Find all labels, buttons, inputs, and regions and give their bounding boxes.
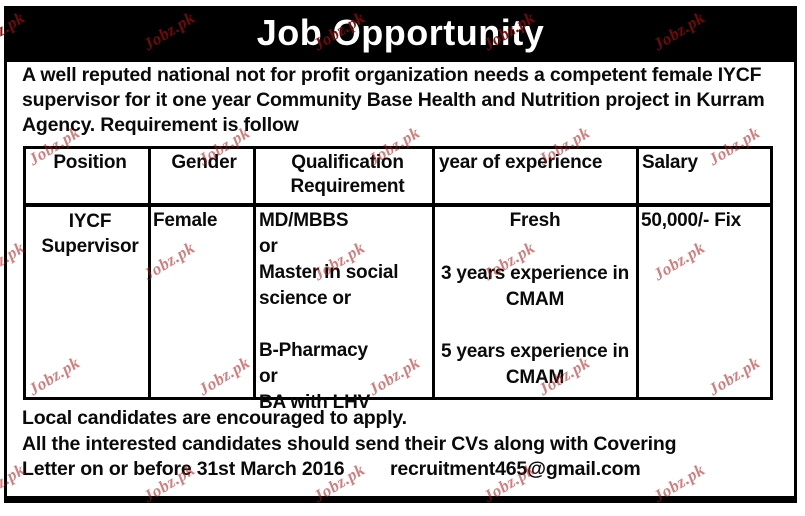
page-title: Job Opportunity <box>7 12 794 54</box>
column-divider-experience-salary <box>636 146 639 400</box>
footer-deadline-text: Letter on or before 31st March 2016 <box>22 457 344 483</box>
cell-experience-five-years: 5 years experience in CMAM <box>435 339 635 391</box>
cell-experience-fresh: Fresh <box>435 209 635 233</box>
cell-qualification-line-1: MD/MBBS <box>259 209 348 233</box>
title-band: Job Opportunity <box>7 9 794 62</box>
table-header-qualification: Qualification Requirement <box>255 151 440 199</box>
footer-line-local-candidates: Local candidates are encouraged to apply… <box>22 406 784 432</box>
cell-qualification-line-3: Master in social <box>259 261 398 285</box>
cell-qualification-line-2: or <box>259 235 278 259</box>
requirements-table: Position Gender Qualification Requiremen… <box>23 146 773 400</box>
table-header-divider <box>23 203 773 207</box>
footer-line-deadline-and-email: Letter on or before 31st March 2016 recr… <box>22 457 784 483</box>
footer-block: Local candidates are encouraged to apply… <box>22 406 784 483</box>
cell-position: IYCF Supervisor <box>29 209 151 259</box>
cell-qualification-line-5: B-Pharmacy <box>259 339 368 363</box>
table-header-gender: Gender <box>153 151 255 175</box>
cell-qualification-line-6: or <box>259 365 278 389</box>
intro-paragraph: A well reputed national not for profit o… <box>22 63 782 138</box>
cell-gender: Female <box>153 209 217 233</box>
bottom-rule <box>4 496 797 503</box>
table-header-experience: year of experience <box>439 151 602 175</box>
table-header-salary: Salary <box>642 151 698 175</box>
footer-email-address[interactable]: recruitment465@gmail.com <box>390 457 640 483</box>
column-divider-position-gender <box>148 146 151 400</box>
cell-qualification-line-4: science or <box>259 287 351 311</box>
cell-experience-three-years: 3 years experience in CMAM <box>435 261 635 313</box>
cell-salary: 50,000/- Fix <box>641 209 741 233</box>
advertisement-page: Job Opportunity A well reputed national … <box>0 0 805 516</box>
table-header-position: Position <box>31 151 149 175</box>
footer-line-send-cv: All the interested candidates should sen… <box>22 432 784 458</box>
